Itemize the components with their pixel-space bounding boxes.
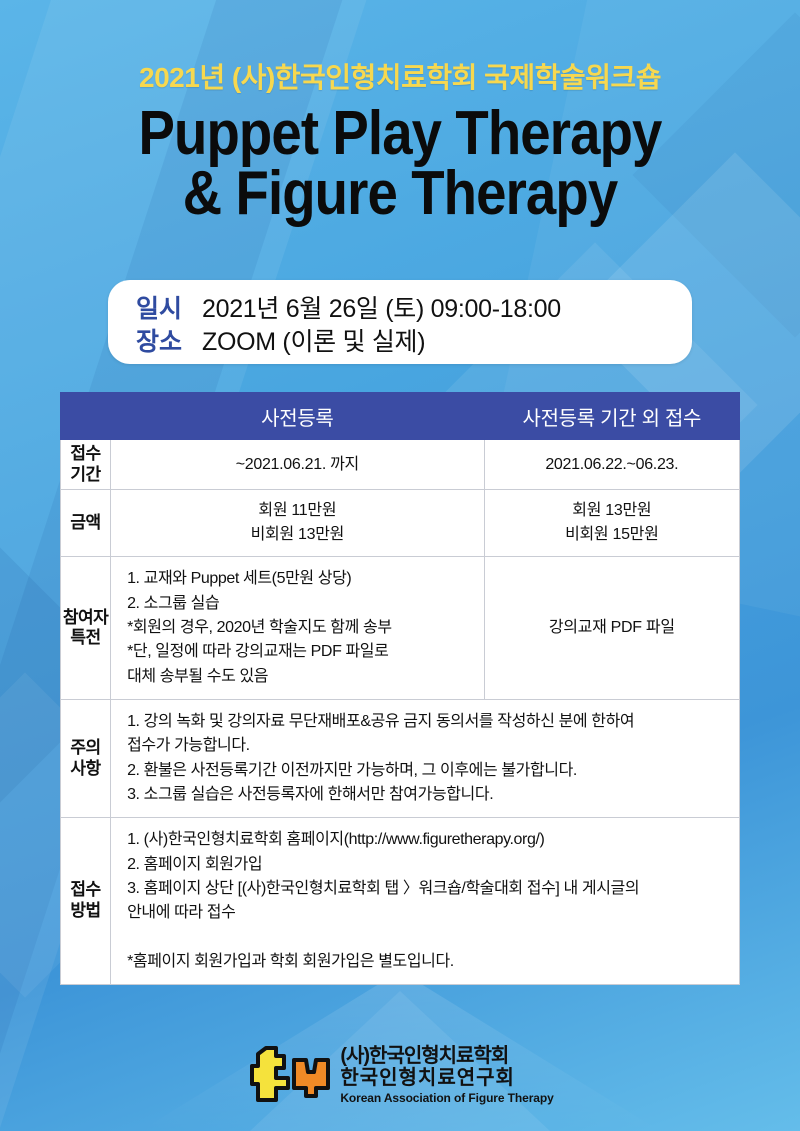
info-row-venue: 장소 ZOOM (이론 및 실제) xyxy=(136,322,692,355)
cell-fee-post: 회원 13만원 비회원 15만원 xyxy=(484,490,739,557)
row-head-fee: 금액 xyxy=(61,490,111,557)
table-row: 접수 방법 1. (사)한국인형치료학회 홈페이지(http://www.fig… xyxy=(61,818,740,985)
table-header-corner xyxy=(61,393,111,440)
info-row-date: 일시 2021년 6월 26일 (토) 09:00-18:00 xyxy=(136,289,692,322)
table-header-post: 사전등록 기간 외 접수 xyxy=(484,393,739,440)
row-head-period: 접수 기간 xyxy=(61,440,111,490)
row-head-cautions: 주의 사항 xyxy=(61,700,111,818)
table-header-pre: 사전등록 xyxy=(111,393,485,440)
info-value-date: 2021년 6월 26일 (토) 09:00-18:00 xyxy=(202,289,561,325)
poster-title-line-1: Puppet Play Therapy xyxy=(48,104,752,164)
puppet-figure-icon xyxy=(246,1044,332,1106)
cell-cautions-body: 1. 강의 녹화 및 강의자료 무단재배포&공유 금지 동의서를 작성하신 분에… xyxy=(111,700,740,818)
cell-period-pre: ~2021.06.21. 까지 xyxy=(111,440,485,490)
info-value-venue: ZOOM (이론 및 실제) xyxy=(202,322,425,358)
table-row: 금액 회원 11만원 비회원 13만원 회원 13만원 비회원 15만원 xyxy=(61,490,740,557)
table-row: 주의 사항 1. 강의 녹화 및 강의자료 무단재배포&공유 금지 동의서를 작… xyxy=(61,700,740,818)
table-row: 참여자 특전 1. 교재와 Puppet 세트(5만원 상당) 2. 소그룹 실… xyxy=(61,557,740,700)
poster-kicker: 2021년 (사)한국인형치료학회 국제학술워크숍 xyxy=(0,56,800,96)
row-head-benefits: 참여자 특전 xyxy=(61,557,111,700)
footer-logo-block: (사)한국인형치료학회 한국인형치료연구회 Korean Association… xyxy=(0,1044,800,1106)
row-head-howto: 접수 방법 xyxy=(61,818,111,985)
table-row: 접수 기간 ~2021.06.21. 까지 2021.06.22.~06.23. xyxy=(61,440,740,490)
organization-logo: (사)한국인형치료학회 한국인형치료연구회 Korean Association… xyxy=(246,1044,553,1106)
cell-fee-pre: 회원 11만원 비회원 13만원 xyxy=(111,490,485,557)
info-label-venue: 장소 xyxy=(136,322,202,358)
cell-benefits-post: 강의교재 PDF 파일 xyxy=(484,557,739,700)
table-header-row: 사전등록 사전등록 기간 외 접수 xyxy=(61,393,740,440)
cell-benefits-pre: 1. 교재와 Puppet 세트(5만원 상당) 2. 소그룹 실습 *회원의 … xyxy=(111,557,485,700)
registration-table: 사전등록 사전등록 기간 외 접수 접수 기간 ~2021.06.21. 까지 … xyxy=(60,392,740,985)
info-label-date: 일시 xyxy=(136,289,202,325)
event-info-box: 일시 2021년 6월 26일 (토) 09:00-18:00 장소 ZOOM … xyxy=(108,280,692,364)
org-line-en: Korean Association of Figure Therapy xyxy=(340,1092,553,1104)
org-line-1: (사)한국인형치료학회 xyxy=(340,1046,553,1066)
cell-howto-body: 1. (사)한국인형치료학회 홈페이지(http://www.figurethe… xyxy=(111,818,740,985)
poster-canvas: 2021년 (사)한국인형치료학회 국제학술워크숍 Puppet Play Th… xyxy=(0,0,800,1131)
poster-title: Puppet Play Therapy & Figure Therapy xyxy=(48,104,752,224)
organization-name: (사)한국인형치료학회 한국인형치료연구회 Korean Association… xyxy=(340,1046,553,1104)
cell-period-post: 2021.06.22.~06.23. xyxy=(484,440,739,490)
org-line-2: 한국인형치료연구회 xyxy=(340,1068,553,1088)
poster-title-line-2: & Figure Therapy xyxy=(48,164,752,224)
